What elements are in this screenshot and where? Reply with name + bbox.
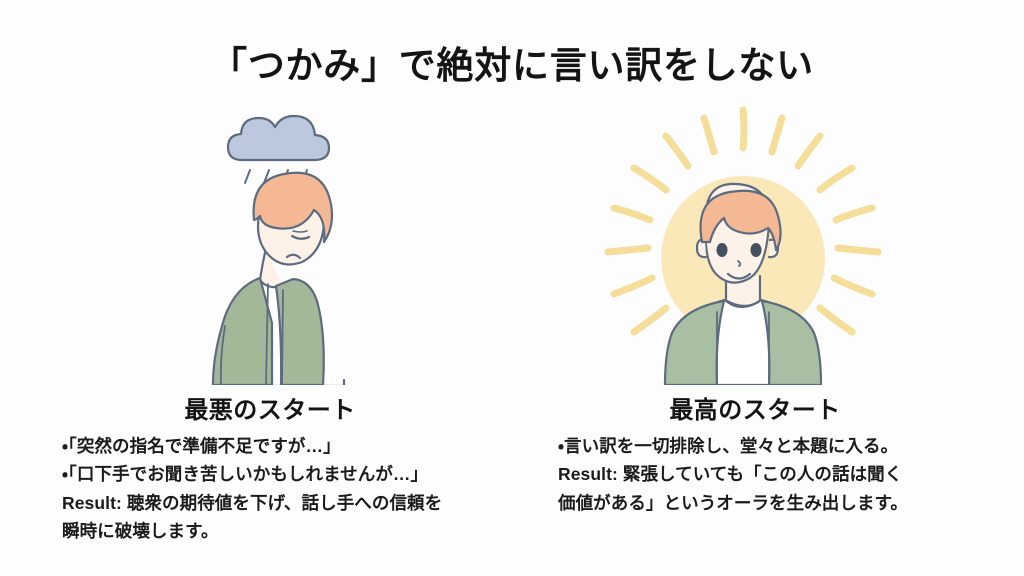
column-body-worst-start: ・「突然の指名で準備不足ですが…」 ・「口下手でお聞き苦しいかもしれませんが…」… [62, 432, 532, 545]
body-line: 瞬時に破壊します。 [62, 517, 532, 545]
column-body-best-start: ・言い訳を一切排除し、堂々と本題に入る。 Result: 緊張していても「この人… [558, 432, 958, 517]
sad-person-figure [213, 173, 344, 385]
illustration-confident-person-with-sun-halo [598, 100, 888, 385]
column-heading-best-start: 最高のスタート [585, 390, 925, 425]
rain-cloud-icon [228, 116, 329, 160]
illustration-sad-person-under-rain-cloud [180, 100, 400, 385]
body-line: Result: 緊張していても「この人の話は聞く [558, 460, 958, 488]
body-line: 価値がある」というオーラを生み出します。 [558, 489, 958, 517]
column-heading-worst-start: 最悪のスタート [100, 390, 440, 425]
body-line: ・言い訳を一切排除し、堂々と本題に入る。 [558, 432, 958, 460]
body-line: ・「突然の指名で準備不足ですが…」 [62, 432, 532, 460]
slide-canvas: 「つかみ」で絶対に言い訳をしない [0, 0, 1024, 576]
body-line: Result: 聴衆の期待値を下げ、話し手への信頼を [62, 489, 532, 517]
body-line: ・「口下手でお聞き苦しいかもしれませんが…」 [62, 460, 532, 488]
page-title: 「つかみ」で絶対に言い訳をしない [0, 44, 1024, 88]
